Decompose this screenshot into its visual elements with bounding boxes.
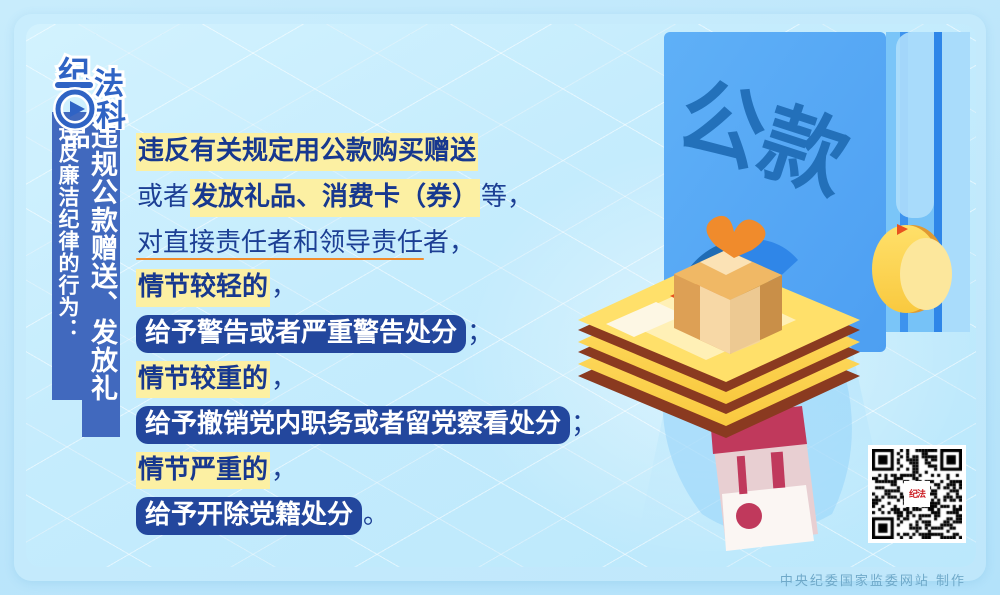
text-segment-plain: 对直接责任者和领导责任者， [136, 225, 476, 262]
text-segment-highlight: 情节较重的 [136, 361, 270, 399]
text-segment-highlight: 违反有关规定用公款购买赠送 [136, 133, 478, 171]
text-segment-plain: ， [270, 361, 298, 398]
text-line: 违反有关规定用公款购买赠送 [136, 133, 556, 171]
logo-char-fa: 法 [94, 67, 124, 102]
text-line: 给予撤销党内职务或者留党察看处分； [136, 406, 556, 443]
play-icon [70, 101, 85, 117]
logo-char-ke: 科 [96, 99, 126, 130]
qr-center-logo: 纪法 [904, 481, 930, 507]
text-segment-plain: ， [270, 269, 298, 306]
brand-logo: 纪 法 科 [52, 48, 164, 126]
vertical-banner: 违规公款赠送、发放礼品 违反廉洁纪律的行为： [52, 112, 120, 437]
text-segment-plain: 或者 [136, 179, 190, 216]
text-segment-plain: ； [570, 406, 598, 443]
banner-title: 违规公款赠送、发放礼品 [82, 112, 120, 437]
text-segment-plain: 。 [362, 497, 390, 534]
text-segment-pill: 给予开除党籍处分 [136, 497, 362, 534]
qr-code[interactable]: 纪法 [868, 445, 966, 543]
text-segment-highlight: 情节严重的 [136, 452, 270, 490]
text-line: 或者发放礼品、消费卡（券）等， [136, 179, 556, 217]
orange-underline [136, 258, 424, 260]
text-segment-pill: 给予警告或者严重警告处分 [136, 315, 466, 352]
logo-char-bai [55, 82, 93, 126]
text-line: 情节严重的， [136, 452, 556, 490]
text-segment-pill: 给予撤销党内职务或者留党察看处分 [136, 406, 570, 443]
text-line: 给予开除党籍处分。 [136, 497, 556, 534]
poster-root: 公款 [0, 0, 1000, 595]
text-segment-plain: 等， [480, 179, 534, 216]
text-segment-plain: ； [466, 315, 494, 352]
footer-credit: 中央纪委国家监委网站 制作 [780, 570, 966, 589]
text-segment-highlight: 情节较轻的 [136, 269, 270, 307]
text-line: 对直接责任者和领导责任者， [136, 225, 556, 262]
text-line: 给予警告或者严重警告处分； [136, 315, 556, 352]
text-segment-plain: ， [270, 452, 298, 489]
text-line: 情节较重的， [136, 361, 556, 399]
regulation-body-text: 违反有关规定用公款购买赠送或者发放礼品、消费卡（券）等，对直接责任者和领导责任者… [136, 133, 556, 543]
text-line: 情节较轻的， [136, 269, 556, 307]
banner-category: 违反廉洁纪律的行为： [52, 112, 82, 400]
text-segment-highlight: 发放礼品、消费卡（券） [190, 179, 480, 217]
